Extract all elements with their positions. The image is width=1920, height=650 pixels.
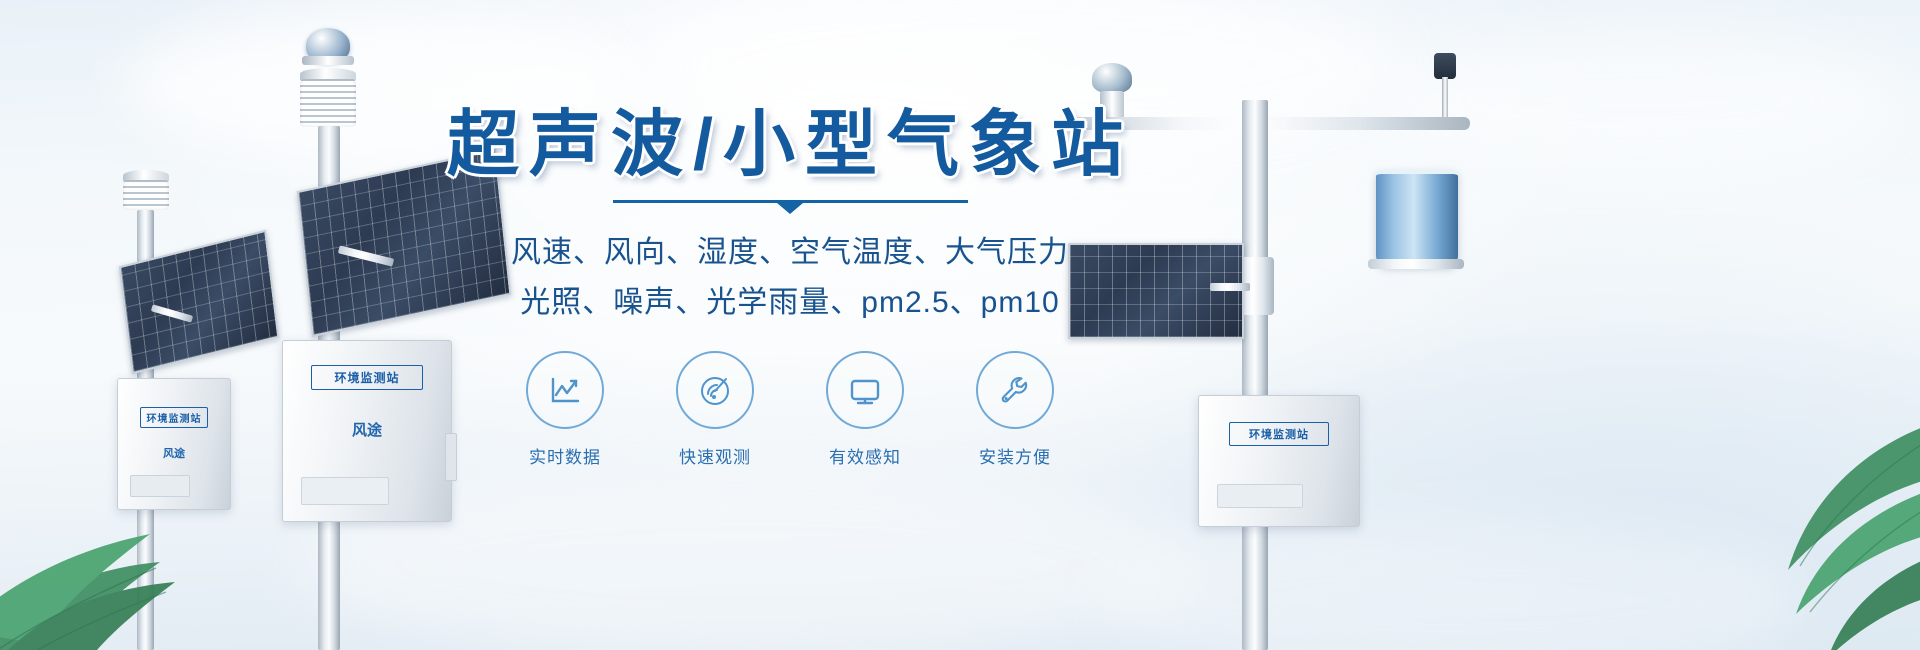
palm-leaf-left-icon [0, 430, 290, 650]
cabinet-brand: 风途 [283, 419, 451, 440]
cabinet-vent [1217, 484, 1303, 508]
subtitle-line-2: 光照、噪声、光学雨量、pm2.5、pm10 [440, 280, 1140, 327]
product-banner: 环境监测站 风途 环境监测站 风途 [0, 0, 1920, 650]
cabinet-label: 环境监测站 [1229, 422, 1329, 446]
feature-item-fast-observation[interactable]: 快速观测 [663, 351, 767, 468]
feature-label: 实时数据 [513, 443, 617, 468]
subtitle-line-1: 风速、风向、湿度、空气温度、大气压力 [440, 230, 1140, 277]
wrench-icon [995, 370, 1035, 410]
feature-list: 实时数据 快速观测 [440, 351, 1140, 468]
ultrasonic-anemometer [1092, 63, 1132, 93]
cabinet-label: 环境监测站 [311, 365, 423, 390]
equipment-cabinet: 环境监测站 [1198, 395, 1360, 527]
sensor-collar [302, 56, 354, 65]
equipment-cabinet: 环境监测站 风途 [282, 340, 452, 522]
feature-item-realtime-data[interactable]: 实时数据 [513, 351, 617, 468]
feature-item-easy-install[interactable]: 安装方便 [963, 351, 1067, 468]
feature-item-effective-sensing[interactable]: 有效感知 [813, 351, 917, 468]
divider-triangle-icon [777, 203, 803, 214]
radiation-shield-sensor [300, 68, 356, 130]
title-divider [613, 200, 968, 214]
rain-gauge [1376, 170, 1458, 266]
feature-label: 快速观测 [663, 443, 767, 468]
feature-circle [826, 351, 904, 429]
feature-label: 有效感知 [813, 443, 917, 468]
feature-label: 安装方便 [963, 443, 1067, 468]
chart-line-icon [545, 370, 585, 410]
cabinet-vent [301, 477, 389, 505]
optical-sensor-stem [1442, 77, 1448, 119]
optical-sensor [1434, 53, 1456, 79]
radar-signal-icon [695, 370, 735, 410]
page-title: 超声波/小型气象站 [440, 105, 1140, 186]
banner-content: 超声波/小型气象站 风速、风向、湿度、空气温度、大气压力 光照、噪声、光学雨量、… [440, 105, 1140, 468]
rain-gauge-shelf [1368, 259, 1464, 269]
palm-leaf-right-icon [1620, 400, 1920, 650]
cabinet-label: 环境监测站 [140, 407, 208, 428]
panel-bracket [1210, 283, 1250, 291]
feature-circle [526, 351, 604, 429]
monitor-icon [845, 370, 885, 410]
feature-circle [676, 351, 754, 429]
station-mast [1242, 100, 1268, 650]
feature-circle [976, 351, 1054, 429]
